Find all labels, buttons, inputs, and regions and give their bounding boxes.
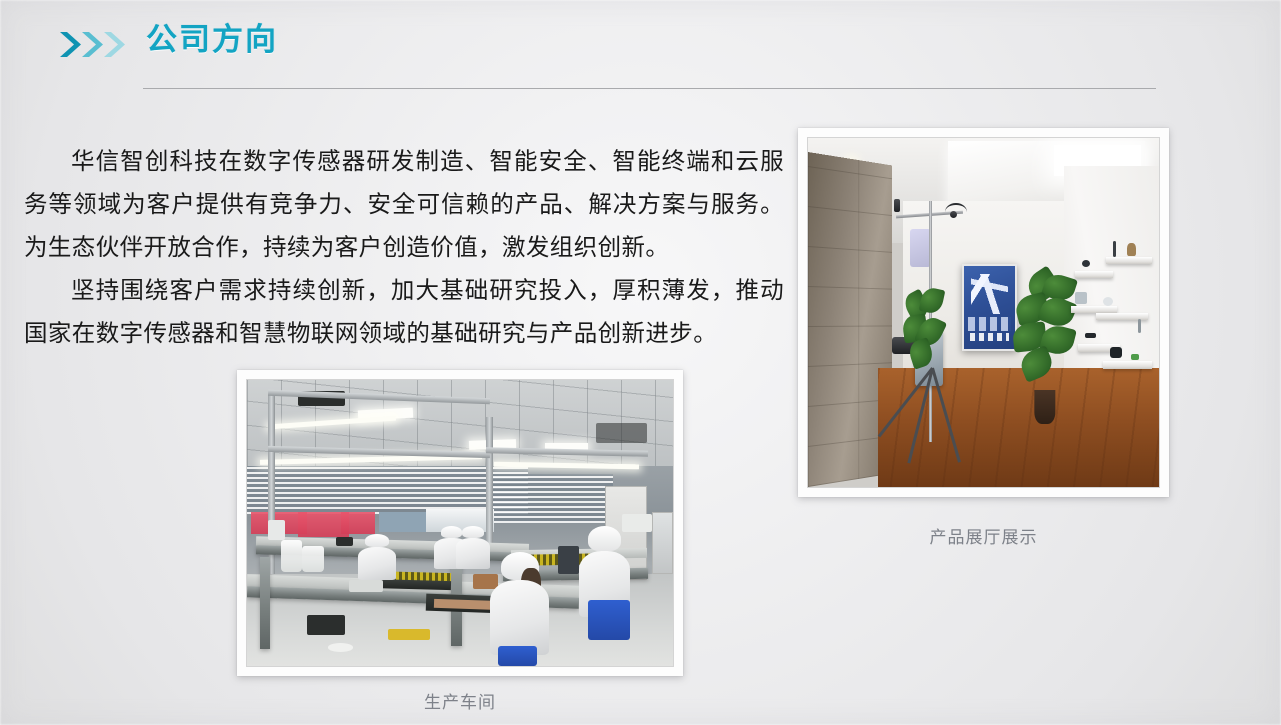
worker-figure: [456, 526, 490, 569]
paragraph-2: 坚持围绕客户需求持续创新，加大基础研究投入，厚积薄发，推动国家在数字传感器和智慧…: [24, 269, 784, 355]
stool: [498, 646, 536, 666]
worker-figure: [490, 552, 550, 655]
page-title: 公司方向: [146, 18, 278, 62]
title-divider: [143, 88, 1156, 89]
body-copy: 华信智创科技在数字传感器研发制造、智能安全、智能终端和云服务等领域为客户提供有竞…: [24, 140, 784, 355]
paragraph-1: 华信智创科技在数字传感器研发制造、智能安全、智能终端和云服务等领域为客户提供有竞…: [24, 140, 784, 269]
chevron-right-icon-3: [102, 30, 128, 59]
slide-header: 公司方向: [0, 18, 1281, 78]
slide-canvas: 公司方向 华信智创科技在数字传感器研发制造、智能安全、智能终端和云服务等领域为客…: [0, 0, 1281, 725]
caption-workshop: 生产车间: [237, 688, 683, 713]
photo-workshop-image: [246, 379, 674, 667]
photo-showroom-image: [807, 137, 1160, 488]
caption-showroom: 产品展厅展示: [798, 523, 1169, 548]
stool: [588, 600, 631, 640]
showroom-brand-poster: [962, 264, 1016, 351]
worker-figure: [358, 534, 396, 580]
photo-workshop[interactable]: [237, 370, 683, 676]
chevron-group: [58, 30, 136, 60]
photo-showroom[interactable]: [798, 128, 1169, 497]
